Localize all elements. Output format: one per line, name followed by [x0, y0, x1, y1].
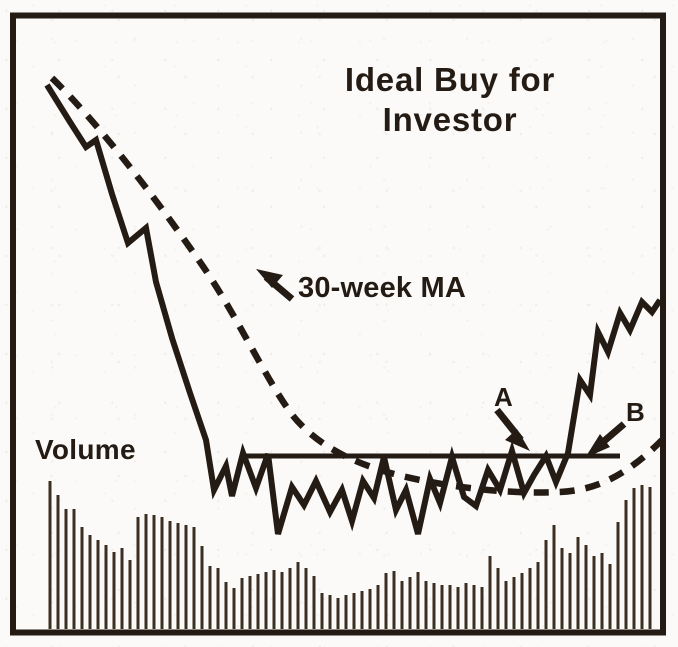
price-line [47, 85, 660, 534]
point-a-label: A [494, 382, 513, 413]
chart-title-line-1: Ideal Buy for [345, 61, 555, 98]
ma-pointer-arrow [256, 269, 292, 299]
page-title: Ideal Buy for Investor [300, 60, 600, 140]
stock-chart-figure: Ideal Buy for Investor 30-week MA Volume… [0, 0, 678, 647]
chart-title-line-2: Investor [383, 101, 518, 138]
moving-average-label: 30-week MA [298, 272, 466, 305]
point-b-pointer-arrow [585, 424, 624, 458]
volume-bars-group [50, 481, 650, 629]
point-b-label: B [626, 397, 645, 428]
point-a-pointer-arrow [497, 410, 530, 451]
volume-label: Volume [35, 434, 136, 466]
